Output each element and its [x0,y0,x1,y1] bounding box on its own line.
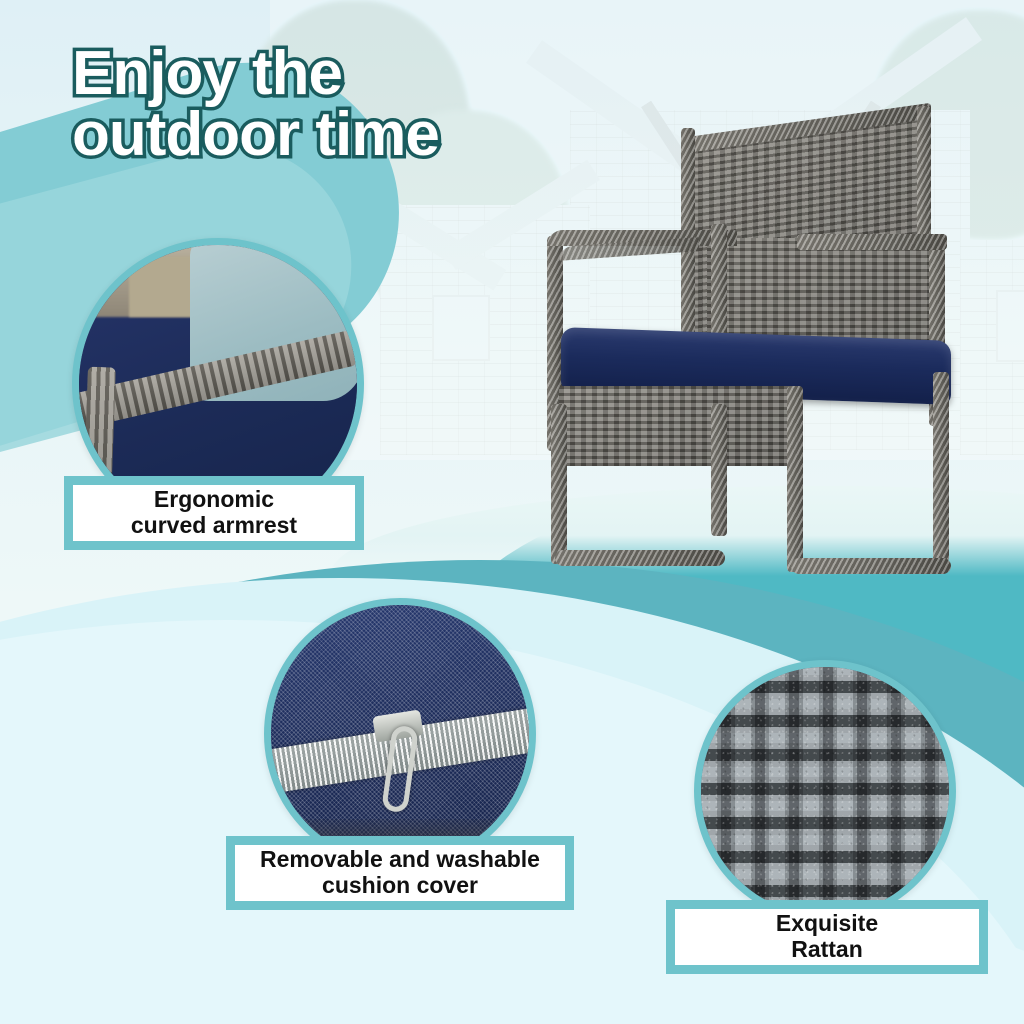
feature-label-armrest: Ergonomic curved armrest [64,476,364,550]
feature-label-cushion-cover: Removable and washable cushion cover [226,836,574,910]
feature-label-rattan: Exquisite Rattan [666,900,988,974]
grey-rattan-armchair-with-navy-cushion [525,118,995,598]
promo-banner: Enjoy the outdoor time Ergonomic curved … [0,0,1024,1024]
page-title: Enjoy the outdoor time [72,44,439,166]
feature-image-cushion-zipper [264,598,536,870]
feature-image-rattan-weave [694,660,956,922]
